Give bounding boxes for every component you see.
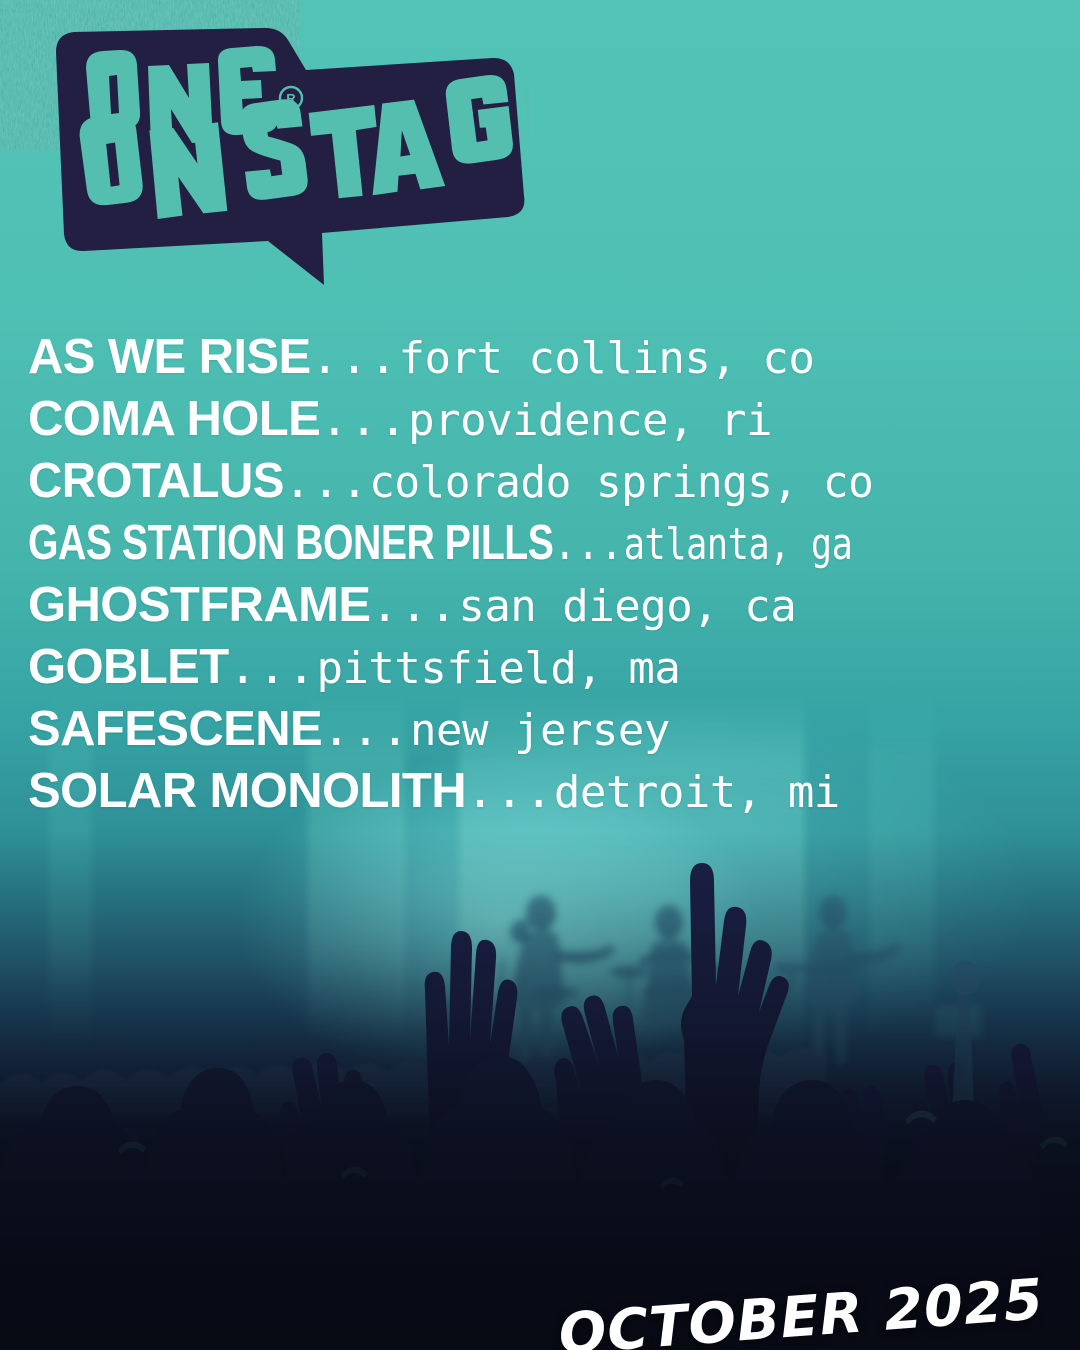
- one-on-stage-logo[interactable]: R: [30, 26, 530, 291]
- band-name: GHOSTFRAME: [28, 578, 370, 632]
- separator-dots: ...: [284, 454, 369, 509]
- separator-dots: ...: [553, 516, 623, 571]
- band-city: colorado springs, co: [369, 457, 873, 508]
- separator-dots: ...: [320, 392, 408, 447]
- separator-dots: ...: [311, 330, 399, 385]
- separator-dots: ...: [322, 702, 410, 757]
- lineup-list: AS WE RISE...fort collins, coCOMA HOLE..…: [28, 326, 1063, 822]
- band-city: providence, ri: [408, 395, 772, 446]
- band-city: fort collins, co: [398, 333, 814, 384]
- band-name: COMA HOLE: [28, 392, 320, 446]
- logo-graphic: R: [30, 26, 530, 291]
- band-name: SOLAR MONOLITH: [28, 764, 466, 818]
- lineup-row: CROTALUS...colorado springs, co: [28, 450, 1032, 512]
- band-city: new jersey: [410, 705, 670, 756]
- band-name: AS WE RISE: [28, 330, 311, 384]
- band-name: GAS STATION BONER PILLS: [28, 516, 553, 570]
- band-name: GOBLET: [28, 640, 229, 694]
- band-city: san diego, ca: [458, 581, 796, 632]
- band-city: atlanta, ga: [624, 519, 853, 570]
- separator-dots: ...: [466, 764, 554, 819]
- lineup-row: AS WE RISE...fort collins, co: [28, 326, 1063, 388]
- lineup-row: COMA HOLE...providence, ri: [28, 388, 1063, 450]
- poster-canvas: R AS WE RISE...fort collins, co: [0, 0, 1080, 1350]
- separator-dots: ...: [229, 640, 317, 695]
- separator-dots: ...: [370, 578, 458, 633]
- band-city: pittsfield, ma: [316, 643, 680, 694]
- band-name: SAFESCENE: [28, 702, 322, 756]
- lineup-row: SAFESCENE...new jersey: [28, 698, 1063, 760]
- lineup-row: GAS STATION BONER PILLS...atlanta, ga: [28, 512, 856, 574]
- lineup-row: GOBLET...pittsfield, ma: [28, 636, 1063, 698]
- lineup-row: GHOSTFRAME...san diego, ca: [28, 574, 1063, 636]
- band-city: detroit, mi: [554, 767, 840, 818]
- band-name: CROTALUS: [28, 454, 284, 508]
- lineup-row: SOLAR MONOLITH...detroit, mi: [28, 760, 1063, 822]
